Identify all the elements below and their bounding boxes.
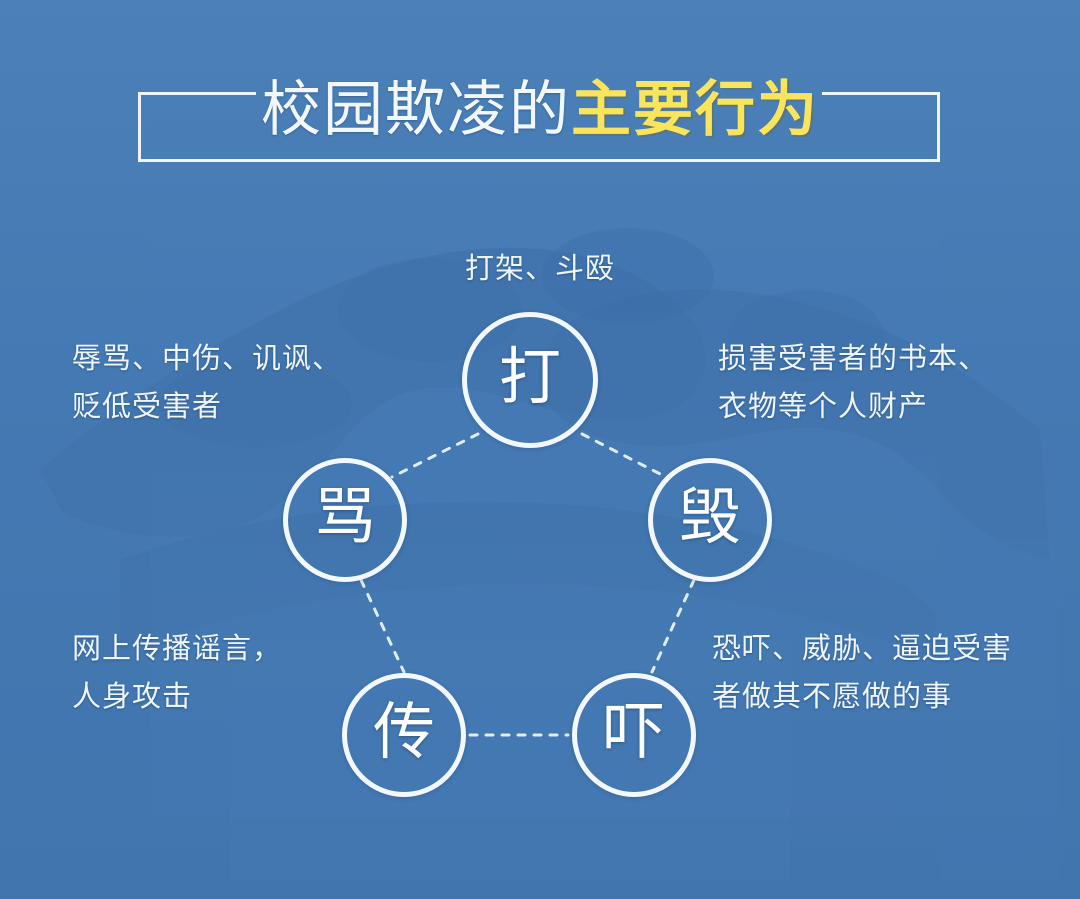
node-hit[interactable]: 打 <box>462 312 598 448</box>
caption-spread: 网上传播谣言， 人身攻击 <box>72 625 452 721</box>
node-threaten[interactable]: 吓 <box>572 673 696 797</box>
node-connector-lines <box>0 0 1080 899</box>
link-hit-scold <box>392 434 478 477</box>
node-threaten-label: 吓 <box>603 702 665 764</box>
caption-threaten: 恐吓、威胁、逼迫受害 者做其不愿做的事 <box>712 625 1080 721</box>
caption-scold: 辱骂、中伤、讥讽、 贬低受害者 <box>72 335 452 431</box>
node-hit-label: 打 <box>499 347 561 409</box>
node-destroy[interactable]: 毁 <box>648 458 772 582</box>
caption-destroy: 损害受害者的书本、 衣物等个人财产 <box>718 335 1078 431</box>
link-destroy-threat <box>652 580 694 672</box>
node-destroy-label: 毁 <box>679 487 741 549</box>
caption-hit: 打架、斗殴 <box>0 245 1080 293</box>
bullying-behaviour-diagram: 打 骂 毁 传 吓 打架、斗殴 辱骂、中伤、讥讽、 贬低受害者 损害受害者的书本… <box>0 0 1080 899</box>
link-hit-destroy <box>582 434 666 477</box>
infographic-poster: 校园欺凌的主要行为 打 骂 毁 <box>0 0 1080 899</box>
node-scold[interactable]: 骂 <box>283 458 407 582</box>
node-scold-label: 骂 <box>314 487 376 549</box>
